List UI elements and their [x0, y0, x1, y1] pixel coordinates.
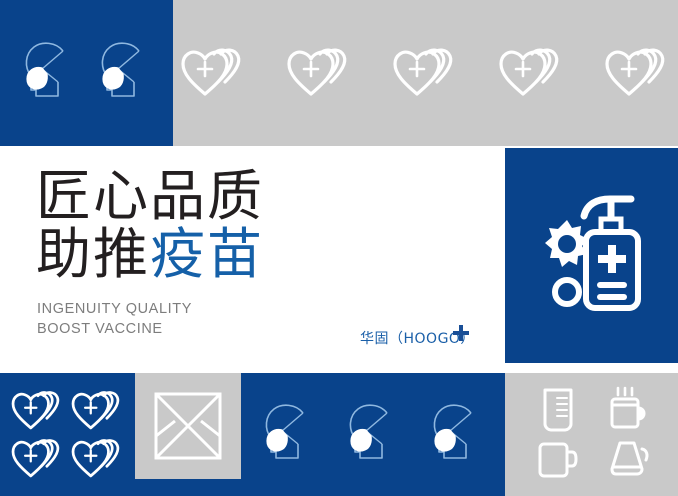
germ-icon: [545, 220, 588, 267]
vessel-icon-grid: [523, 385, 663, 485]
beaker-icon: [537, 386, 579, 434]
double-heart-plus-icon: [284, 46, 356, 100]
double-heart-plus-icon: [9, 389, 67, 433]
small-circle-icon: [555, 280, 579, 304]
headline-line-2-dark: 助推: [36, 222, 150, 286]
masked-face-icon: [258, 398, 320, 472]
top-masked-face-panel: [0, 0, 173, 146]
double-heart-plus-icon: [496, 46, 568, 100]
masked-face-icon: [426, 398, 488, 472]
masked-face-icon: [18, 38, 80, 108]
poster-canvas: 匠心品质 助推疫苗 INGENUITY QUALITY BOOST VACCIN…: [0, 0, 678, 496]
masked-face-icon: [94, 38, 156, 108]
mug-icon: [534, 438, 582, 482]
masked-face-icon-row: [241, 373, 505, 496]
double-heart-plus-icon: [69, 437, 127, 481]
double-heart-plus-icon: [390, 46, 462, 100]
kettle-icon: [604, 437, 652, 483]
broken-image-placeholder-panel: [135, 373, 241, 479]
double-heart-plus-icon: [602, 46, 674, 100]
headline: 匠心品质 助推疫苗: [36, 170, 264, 282]
double-heart-plus-icon: [9, 437, 67, 481]
bottom-heart-plus-panel: [0, 373, 135, 496]
broken-image-icon: [153, 391, 223, 461]
subtitle: INGENUITY QUALITY BOOST VACCINE: [37, 300, 192, 339]
subtitle-line-1: INGENUITY QUALITY: [37, 300, 192, 320]
steaming-cup-icon: [604, 386, 652, 434]
double-heart-plus-icon: [178, 46, 250, 100]
headline-line-1: 匠心品质: [36, 170, 264, 224]
placeholder-wrap: [135, 373, 241, 479]
plus-icon: [452, 324, 470, 342]
sanitizer-icon-wrap: [505, 148, 678, 363]
masked-face-icon-row: [0, 0, 173, 146]
headline-panel: 匠心品质 助推疫苗 INGENUITY QUALITY BOOST VACCIN…: [0, 148, 505, 363]
sanitizer-panel: [505, 148, 678, 363]
top-heart-plus-panel: [173, 0, 678, 146]
double-heart-grid: [8, 387, 128, 483]
sanitizer-bottle-icon: [527, 186, 657, 326]
lab-vessel-panel: [505, 373, 678, 496]
headline-line-2: 助推疫苗: [36, 228, 264, 282]
double-heart-plus-icon: [69, 389, 127, 433]
double-heart-icon-row: [173, 0, 678, 146]
bottom-masked-face-panel: [241, 373, 505, 496]
masked-face-icon: [342, 398, 404, 472]
subtitle-line-2: BOOST VACCINE: [37, 320, 192, 340]
headline-line-2-accent: 疫苗: [150, 222, 264, 286]
